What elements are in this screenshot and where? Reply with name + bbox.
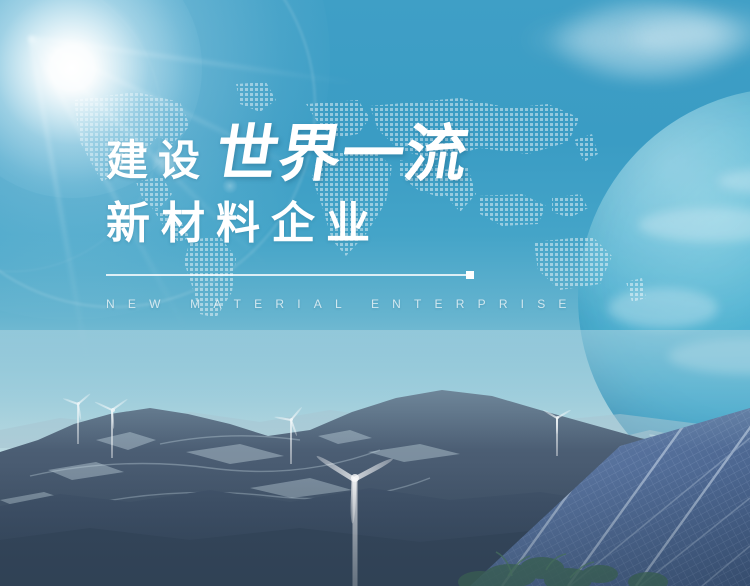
subtitle-text: NEW MATERIAL ENTERPRISE — [106, 297, 666, 311]
wind-turbine-icon — [310, 448, 400, 586]
divider-end-cap — [466, 271, 474, 279]
wind-turbine-icon — [60, 388, 96, 444]
banner-copy: 建设 世界一流 新材料企业 NEW MATERIAL ENTERPRISE — [106, 124, 666, 311]
wind-turbine-icon — [92, 392, 132, 458]
headline-lead-text: 建设 — [106, 140, 210, 186]
hero-banner: 建设 世界一流 新材料企业 NEW MATERIAL ENTERPRISE — [0, 0, 750, 586]
headline-line-2: 新材料企业 — [106, 202, 666, 246]
wind-turbine-icon — [272, 404, 310, 464]
solar-panel-array — [450, 386, 750, 586]
divider-rule — [106, 274, 470, 276]
headline-emphasis-text: 世界一流 — [211, 124, 473, 186]
headline-line-1: 建设 世界一流 — [106, 124, 666, 186]
